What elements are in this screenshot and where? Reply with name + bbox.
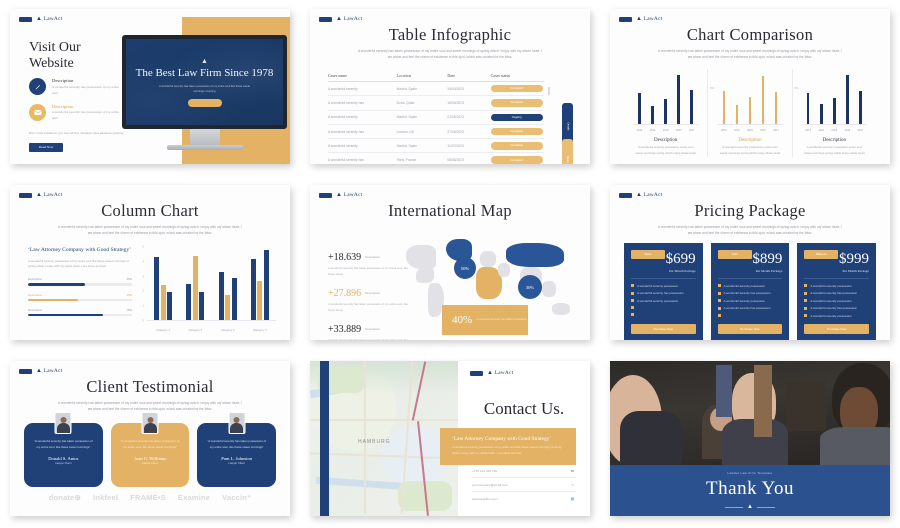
brand-logo: ▲ LawAct: [619, 192, 662, 198]
page-title: Table Infographic: [310, 25, 590, 45]
chart-panel-3: 5% 322013 212014 272015 502016 342017 De…: [792, 69, 876, 157]
testimonial-role: Lawyer Client: [32, 462, 95, 465]
brand-bar-icon: [19, 17, 32, 22]
contact-gold-panel: ‘Law Attorney Company with Good Strategy…: [440, 428, 576, 465]
bar-group: [154, 247, 172, 320]
callout-text: A wonderful serenity has taken possessio…: [476, 317, 527, 322]
plan-period: Per Month Package: [631, 269, 696, 273]
bullet-square-icon: [718, 307, 721, 310]
brand-name: ▲ LawAct: [36, 16, 62, 22]
slide-cell-pricing-package[interactable]: ▲ LawAct Pricing Package A wonderful ser…: [600, 176, 900, 352]
y-tick: 4: [143, 260, 145, 263]
page-subtitle: A wonderful serenity has taken possessio…: [10, 400, 290, 412]
monitor-base: [167, 145, 243, 150]
testimonial-name: Joan G. Williams: [119, 456, 182, 461]
plan-price: $699: [631, 252, 696, 267]
progress-label: Description: [28, 293, 42, 297]
brand-logo: ▲ LawAct: [19, 192, 62, 198]
progress-item-2: Description45%: [28, 293, 132, 301]
slide-cell-table-infographic[interactable]: ▲ LawAct Table Infographic A wonderful s…: [300, 0, 600, 176]
feature-title-1: Description: [52, 78, 124, 83]
list-item: A wonderful serenity possession: [631, 299, 696, 303]
page-title: Pricing Package: [610, 201, 890, 221]
column-header-status: Cases status: [491, 73, 544, 78]
monitor-mockup: ▲ The Best Law Firm Since 1978 A wonderf…: [122, 35, 287, 150]
x-tick: Category 3: [221, 328, 235, 332]
cell-location: Paris, France: [397, 158, 448, 162]
page-title: Contact Us.: [458, 399, 590, 419]
page-title: Client Testimonial: [10, 377, 290, 397]
slide-table-infographic[interactable]: ▲ LawAct Table Infographic A wonderful s…: [310, 9, 590, 164]
status-badge-active[interactable]: Ongoing: [491, 114, 543, 121]
axis-line: [633, 124, 698, 125]
panel-description-1: Description A wonderful serenity possess…: [629, 138, 702, 157]
quote-text: ‘Law Attorney Company with Good Strategy…: [28, 247, 132, 255]
pen-circle-icon: [29, 78, 46, 95]
column-header-date: Date: [447, 73, 490, 78]
bar-group: [219, 247, 237, 320]
brand-name: ▲ LawAct: [487, 370, 513, 376]
x-tick: Category 4: [253, 328, 267, 332]
y-tick: 1: [143, 305, 145, 308]
monitor-neck: [190, 129, 220, 145]
progress-track: [28, 283, 132, 285]
brand-name: ▲ LawAct: [336, 192, 362, 198]
template-name: Lawdel Law Firm Template: [727, 471, 772, 475]
thank-you-title: Thank You: [706, 478, 794, 500]
brand-name: ▲ LawAct: [636, 192, 662, 198]
table-row[interactable]: A wonderful serenity has Paris, France 0…: [328, 153, 544, 164]
table-row[interactable]: A wonderful serenity Madrid, Spain 11/07…: [328, 139, 544, 153]
cell-name: A wonderful serenity has: [328, 158, 397, 162]
plan-price: $999: [804, 252, 869, 267]
page-subtitle: A wonderful serenity has taken possessio…: [610, 224, 890, 236]
brand-bar-icon: [319, 193, 332, 198]
bar-plot-2: 342013 202014 282015 492016 332017: [713, 69, 786, 125]
purchase-button[interactable]: Purchase Now: [631, 324, 696, 334]
status-badge[interactable]: Completed: [491, 128, 543, 135]
logo-divider: ▲: [725, 504, 775, 510]
feature-item-1[interactable]: Description A wonderful serenity has pos…: [29, 78, 124, 96]
visit-paragraph: But I must explain to you how all this m…: [29, 130, 124, 136]
table-row[interactable]: A wonderful serenity has London, UK 27/0…: [328, 125, 544, 139]
stat-key: Description: [365, 291, 380, 295]
column-header-name: Cases name: [328, 73, 397, 78]
list-item: A wonderful serenity possession: [804, 314, 869, 318]
client-logo: Examine: [178, 493, 210, 502]
bullet-square-icon: [804, 292, 807, 295]
stat-key: Description: [365, 255, 380, 259]
cell-date: 18/05/2023: [447, 101, 490, 105]
slide-cell-chart-comparison[interactable]: ▲ LawAct Chart Comparison A wonderful se…: [600, 0, 900, 176]
brand-bar-icon: [470, 371, 483, 376]
testimonial-quote: “A wonderful serenity has taken possessi…: [119, 439, 182, 451]
slide-column-chart[interactable]: ▲ LawAct Column Chart A wonderful sereni…: [10, 185, 290, 340]
panel-title: ‘Law Attorney Company with Good Strategy…: [452, 436, 564, 442]
phone-icon[interactable]: ☎: [569, 467, 576, 474]
stat-number: +33.889: [328, 324, 361, 335]
bullet-square-icon: [804, 314, 807, 317]
slide-grid: ▲ LawAct Visit Our Website Description A…: [0, 0, 900, 528]
progress-value: 45%: [126, 293, 132, 297]
panel-text: A wonderful serenity possession entire s…: [629, 145, 702, 157]
list-item: [718, 314, 783, 317]
bullet-square-icon: [631, 284, 634, 287]
bullet-square-icon: [631, 306, 634, 309]
status-badge[interactable]: Completed: [491, 85, 543, 92]
brand-name: ▲ LawAct: [36, 192, 62, 198]
brand-logo: ▲ LawAct: [19, 16, 62, 22]
side-tab-status[interactable]: Status: [562, 139, 573, 164]
feature-list: A wonderful serenity possession A wonder…: [718, 284, 783, 322]
cell-location: Madrid, Spain: [397, 87, 448, 91]
side-label: Details: [547, 87, 550, 95]
location-map[interactable]: HAMBURG: [310, 361, 458, 516]
slide-client-testimonial[interactable]: ▲ LawAct Client Testimonial A wonderful …: [10, 361, 290, 516]
map-statistics: +18.639Description A wonderful serenity …: [328, 247, 408, 340]
cell-name: A wonderful serenity has: [328, 101, 397, 105]
bar-plot-1: 322013 192014 262015 502016 352017: [629, 69, 702, 125]
cell-date: 08/08/2023: [447, 158, 490, 162]
client-logo: Vaccin⁺: [222, 493, 251, 502]
chart-panel-1: 322013 192014 262015 502016 352017 Descr…: [624, 69, 707, 157]
bullet-square-icon: [631, 313, 634, 316]
email-value: yourcompany@email.com: [472, 483, 508, 487]
progress-label: Description: [28, 308, 42, 312]
panel-text: A wonderful serenity possession entire s…: [713, 145, 786, 157]
brand-logo: ▲ LawAct: [319, 16, 362, 22]
testimonial-role: Lawyer Client: [119, 462, 182, 465]
envelope-circle-icon: [29, 104, 46, 121]
list-item: [631, 306, 696, 309]
client-logo: donate⊕: [49, 493, 81, 502]
progress-track: [28, 314, 132, 316]
website-value: www.lawpfirm.com: [472, 497, 498, 501]
list-item: A wonderful serenity has possession: [718, 291, 783, 295]
list-item: A wonderful serenity has possession: [718, 306, 783, 310]
cell-date: 27/06/2023: [447, 130, 490, 134]
panel-text: A wonderful serenity possession entire s…: [798, 145, 871, 157]
stat-item-1: +18.639Description A wonderful serenity …: [328, 247, 408, 277]
brand-bar-icon: [19, 193, 32, 198]
monitor-screen: ▲ The Best Law Firm Since 1978 A wonderf…: [122, 35, 287, 129]
testimonial-cards: “A wonderful serenity has taken possessi…: [24, 423, 276, 487]
page-title: International Map: [310, 201, 590, 221]
bullet-square-icon: [718, 284, 721, 287]
plan-period: Per Month Package: [804, 269, 869, 273]
brand-logo: ▲ LawAct: [319, 192, 362, 198]
column-chart-sidebar: ‘Law Attorney Company with Good Strategy…: [28, 247, 132, 316]
feature-text-1: A wonderful serenity has possession of m…: [52, 85, 124, 97]
chart-panels: 322013 192014 262015 502016 352017 Descr…: [624, 69, 876, 157]
bullet-square-icon: [631, 299, 634, 302]
brand-logo: ▲ LawAct: [619, 16, 662, 22]
y-tick: 3: [143, 275, 145, 278]
bar-group: [186, 247, 204, 320]
phone-value: +778 123 456 789: [472, 469, 497, 473]
brand-bar-icon: [619, 17, 632, 22]
map-city-label: HAMBURG: [358, 439, 391, 445]
progress-label: Description: [28, 277, 42, 281]
slide-international-map[interactable]: ▲ LawAct International Map 50% 30%: [310, 185, 590, 340]
panel-description-2: Description A wonderful serenity possess…: [713, 138, 786, 157]
stat-number: +18.639: [328, 252, 361, 263]
contact-row-phone[interactable]: +778 123 456 789 ☎: [472, 467, 576, 478]
testimonial-card-3[interactable]: “A wonderful serenity has taken possessi…: [197, 423, 276, 487]
screen-subtext: A wonderful serenity has taken possessio…: [157, 84, 253, 94]
y-axis: 5 4 3 2 1 0: [138, 247, 146, 321]
status-badge[interactable]: Completed: [491, 156, 543, 163]
brand-name: ▲ LawAct: [336, 16, 362, 22]
pricing-cards: Basic $699 Per Month Package A wonderful…: [624, 243, 876, 340]
testimonial-quote: “A wonderful serenity has taken possessi…: [205, 439, 268, 451]
slide-pricing-package[interactable]: ▲ LawAct Pricing Package A wonderful ser…: [610, 185, 890, 340]
page-subtitle: A wonderful serenity has taken possessio…: [310, 48, 590, 60]
progress-item-1: Description35%: [28, 277, 132, 285]
purchase-button[interactable]: Purchase Now: [718, 324, 783, 334]
list-item: A wonderful serenity possession: [804, 299, 869, 303]
client-logo: Inkfeel: [93, 493, 118, 502]
bullet-square-icon: [718, 314, 721, 317]
sidebar-paragraph: A wonderful serenity possession of my en…: [28, 259, 132, 271]
list-item: [631, 313, 696, 316]
slide-cell-visit-website[interactable]: ▲ LawAct Visit Our Website Description A…: [0, 0, 300, 176]
stat-desc: A wonderful serenity has taken possessio…: [328, 302, 408, 313]
page-subtitle: A wonderful serenity has taken possessio…: [10, 224, 290, 236]
axis-line: [802, 124, 867, 125]
contact-row-website[interactable]: www.lawpfirm.com 🌐: [472, 495, 576, 505]
page-title: Chart Comparison: [610, 25, 890, 45]
testimonial-role: Lawyer Client: [205, 462, 268, 465]
chart-panel-2: 5% 342013 202014 282015 492016 332017 De…: [707, 69, 791, 157]
table-header-row: Cases name Location Date Cases status: [328, 69, 544, 82]
read-now-button[interactable]: Read Now: [29, 143, 63, 152]
screen-logo-icon: ▲: [201, 57, 208, 65]
grouped-bar-chart: 5 4 3 2 1 0: [138, 247, 276, 335]
page-title: Column Chart: [10, 201, 290, 221]
cell-location: London, UK: [397, 130, 448, 134]
feature-item-2[interactable]: Description A wonderful serenity has pos…: [29, 104, 124, 122]
slide-cell-client-testimonial[interactable]: ▲ LawAct Client Testimonial A wonderful …: [0, 352, 300, 528]
progress-item-3: Description75%: [28, 308, 132, 316]
cell-date: 11/07/2023: [447, 144, 490, 148]
bullet-square-icon: [804, 284, 807, 287]
slide-contact-us[interactable]: HAMBURG ▲ LawAct Contact Us. ‘Law Attorn…: [310, 361, 590, 516]
axis-line: [717, 124, 782, 125]
cell-location: Madrid, Spain: [397, 144, 448, 148]
pricing-card-gold[interactable]: Gold $899 Per Month Package A wonderful …: [711, 243, 790, 340]
testimonial-name: Pam L. Johnston: [205, 456, 268, 461]
brand-name: ▲ LawAct: [36, 368, 62, 374]
stat-desc: A wonderful serenity has taken possessio…: [328, 338, 408, 340]
list-item: A wonderful serenity possession: [631, 284, 696, 288]
cell-name: A wonderful serenity: [328, 115, 397, 119]
stat-item-3: +33.889Description A wonderful serenity …: [328, 319, 408, 340]
cell-name: A wonderful serenity: [328, 87, 397, 91]
table-row[interactable]: A wonderful serenity Madrid, Spain 24/03…: [328, 82, 544, 96]
table-row[interactable]: A wonderful serenity Madrid, Spain 01/06…: [328, 111, 544, 125]
bullet-square-icon: [718, 292, 721, 295]
y-tick: 5: [143, 246, 145, 249]
slide-chart-comparison[interactable]: ▲ LawAct Chart Comparison A wonderful se…: [610, 9, 890, 164]
panel-text: A wonderful serenity possession of my en…: [452, 445, 564, 457]
plot-area: [147, 247, 276, 321]
slide-cell-contact-us[interactable]: HAMBURG ▲ LawAct Contact Us. ‘Law Attorn…: [300, 352, 600, 528]
y-tick: 0: [143, 320, 145, 323]
screen-headline: The Best Law Firm Since 1978: [136, 67, 274, 80]
y-tick: 2: [143, 290, 145, 293]
bullet-square-icon: [804, 299, 807, 302]
x-tick: Category 2: [189, 328, 203, 332]
slide-cell-international-map[interactable]: ▲ LawAct International Map 50% 30%: [300, 176, 600, 352]
visit-left-column: Visit Our Website Description A wonderfu…: [29, 40, 124, 152]
testimonial-quote: “A wonderful serenity has taken possessi…: [32, 439, 95, 451]
panel-title: Description: [798, 138, 871, 143]
stat-key: Description: [365, 327, 380, 331]
brand-logo: ▲ LawAct: [19, 368, 62, 374]
testimonial-name: Donald S. Antos: [32, 456, 95, 461]
client-logos: donate⊕ Inkfeel FRAME•S Examine Vaccin⁺: [10, 493, 290, 502]
feature-text-2: A wonderful serenity has possession of m…: [52, 110, 124, 122]
x-axis: Category 1 Category 2 Category 3 Categor…: [147, 328, 276, 332]
navy-accent-bar: [320, 361, 329, 516]
cell-date: 01/06/2023: [447, 115, 490, 119]
table-row[interactable]: A wonderful serenity has Doha, Qatar 18/…: [328, 96, 544, 110]
pricing-card-platinum[interactable]: Platinum $999 Per Month Package A wonder…: [797, 243, 876, 340]
cell-name: A wonderful serenity has: [328, 130, 397, 134]
callout-percent: 40%: [452, 314, 472, 326]
list-item: A wonderful serenity has possession: [804, 306, 869, 310]
feature-list: A wonderful serenity possession A wonder…: [804, 284, 869, 322]
cell-date: 24/03/2023: [447, 87, 490, 91]
screen-cta-button[interactable]: [188, 99, 222, 107]
bullet-square-icon: [718, 299, 721, 302]
brand-logo: ▲ LawAct: [470, 370, 513, 376]
bullet-square-icon: [631, 292, 634, 295]
cell-location: Doha, Qatar: [397, 101, 448, 105]
thank-you-band: Lawdel Law Firm Template Thank You ▲: [610, 465, 890, 516]
map-bubble-2[interactable]: 30%: [518, 275, 542, 299]
feature-list: A wonderful serenity possession A wonder…: [631, 284, 696, 322]
slide-visit-website[interactable]: ▲ LawAct Visit Our Website Description A…: [10, 9, 290, 164]
list-item: A wonderful serenity possession: [718, 284, 783, 288]
panel-description-3: Description A wonderful serenity possess…: [798, 138, 871, 157]
screen-overlay: ▲ The Best Law Firm Since 1978 A wonderf…: [126, 39, 283, 125]
avatar: [142, 412, 159, 434]
bullet-square-icon: [804, 307, 807, 310]
contact-panel: ▲ LawAct Contact Us. ‘Law Attorney Compa…: [458, 361, 590, 516]
client-logo: FRAME•S: [130, 493, 166, 502]
brand-bar-icon: [319, 17, 332, 22]
avatar: [55, 412, 72, 434]
column-header-location: Location: [397, 73, 448, 78]
status-badge[interactable]: Completed: [491, 142, 543, 149]
cell-name: A wonderful serenity: [328, 144, 397, 148]
progress-track: [28, 299, 132, 301]
team-photo: [610, 361, 890, 465]
page-subtitle: A wonderful serenity has taken possessio…: [610, 48, 890, 60]
cell-location: Madrid, Spain: [397, 115, 448, 119]
avatar: [228, 412, 245, 434]
bar-group: [251, 247, 269, 320]
plan-period: Per Month Package: [718, 269, 783, 273]
panel-title: Description: [713, 138, 786, 143]
testimonial-card-1[interactable]: “A wonderful serenity has taken possessi…: [24, 423, 103, 487]
feature-title-2: Description: [52, 104, 124, 109]
bar-plot-3: 322013 212014 272015 502016 342017: [798, 69, 871, 125]
testimonial-card-2[interactable]: “A wonderful serenity has taken possessi…: [111, 423, 190, 487]
list-item: A wonderful serenity has possession: [804, 291, 869, 295]
contact-row-email[interactable]: yourcompany@email.com ✉: [472, 481, 576, 492]
list-item: A wonderful serenity has possession: [631, 291, 696, 295]
mail-icon[interactable]: ✉: [569, 481, 576, 488]
world-map: 50% 30% 40% A wonderful serenity has tak…: [402, 233, 584, 340]
side-tabs[interactable]: Details Details Status: [550, 81, 576, 164]
list-item: A wonderful serenity possession: [718, 299, 783, 303]
list-item: A wonderful serenity possession: [804, 284, 869, 288]
plan-price: $899: [718, 252, 783, 267]
brand-name: ▲ LawAct: [636, 16, 662, 22]
stat-number: +27.896: [328, 288, 361, 299]
brand-bar-icon: [19, 369, 32, 374]
brand-bar-icon: [619, 193, 632, 198]
progress-value: 75%: [126, 308, 132, 312]
page-title: Visit Our Website: [29, 40, 124, 71]
panel-title: Description: [629, 138, 702, 143]
stat-item-2: +27.896Description A wonderful serenity …: [328, 283, 408, 313]
purchase-button[interactable]: Purchase Now: [804, 324, 869, 334]
cases-table: Cases name Location Date Cases status A …: [328, 69, 544, 164]
slide-cell-column-chart[interactable]: ▲ LawAct Column Chart A wonderful sereni…: [0, 176, 300, 352]
triangle-logo-icon: ▲: [747, 504, 753, 510]
map-callout: 40% A wonderful serenity has taken posse…: [442, 305, 528, 335]
map-bubble-1[interactable]: 50%: [454, 257, 476, 279]
progress-value: 35%: [126, 277, 132, 281]
status-badge[interactable]: Completed: [491, 99, 543, 106]
slide-thank-you[interactable]: Lawdel Law Firm Template Thank You ▲: [610, 361, 890, 516]
x-tick: Category 1: [156, 328, 170, 332]
pricing-card-basic[interactable]: Basic $699 Per Month Package A wonderful…: [624, 243, 703, 340]
slide-cell-thank-you[interactable]: Lawdel Law Firm Template Thank You ▲: [600, 352, 900, 528]
stat-desc: A wonderful serenity has taken possessio…: [328, 266, 408, 277]
globe-icon[interactable]: 🌐: [569, 495, 576, 502]
